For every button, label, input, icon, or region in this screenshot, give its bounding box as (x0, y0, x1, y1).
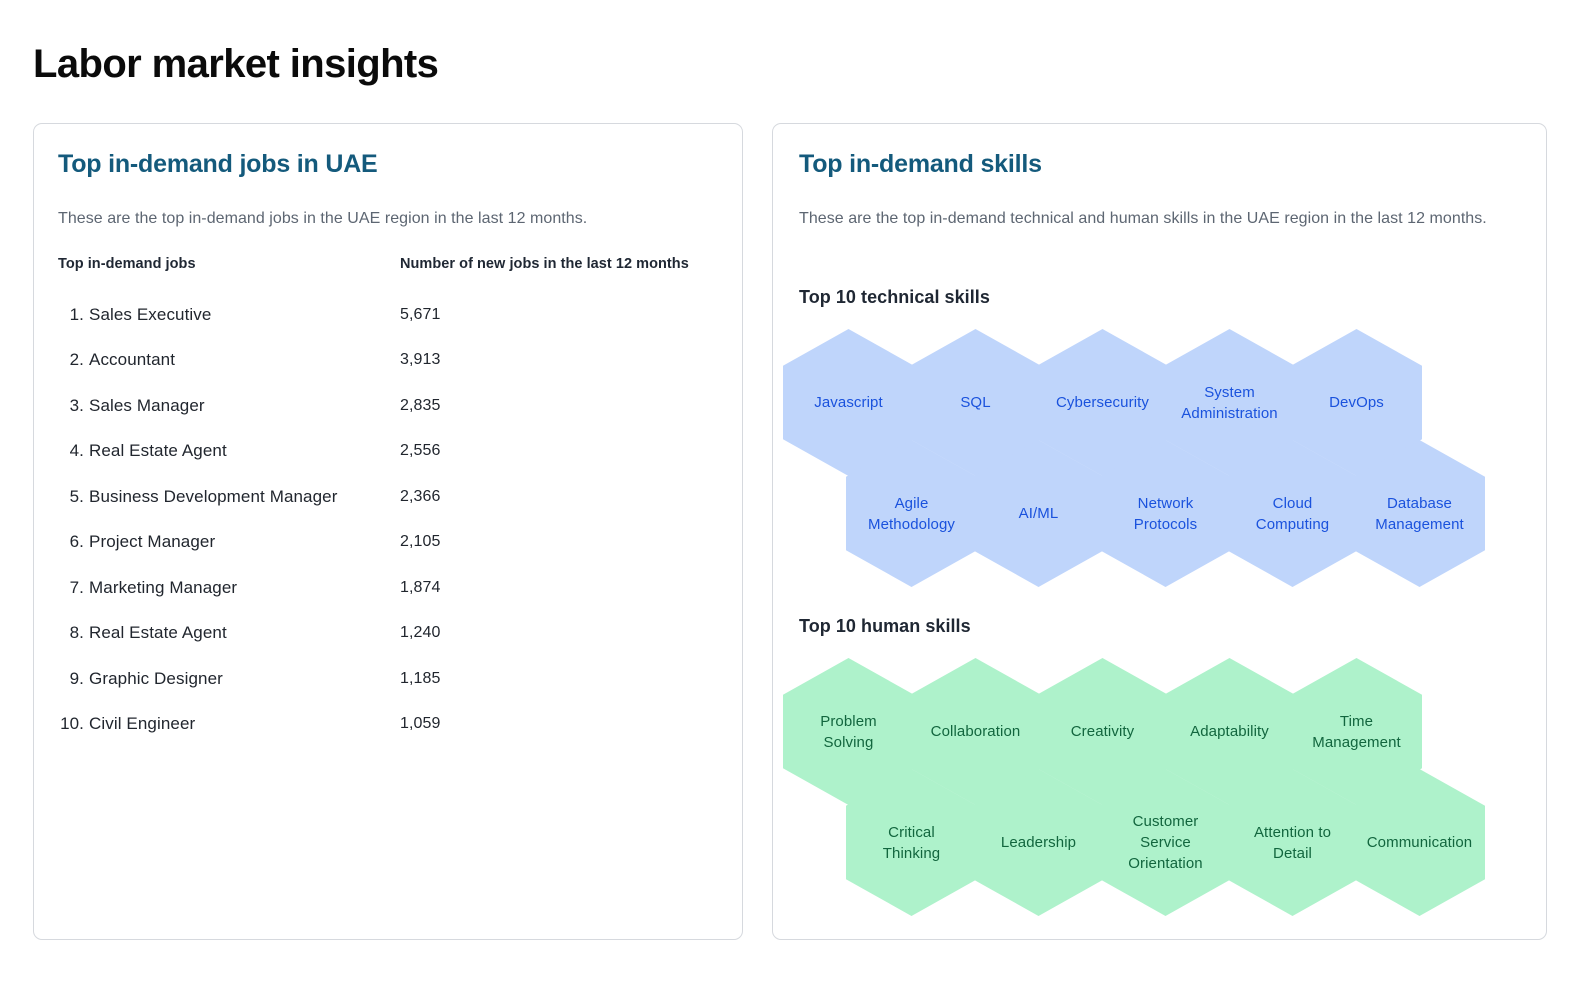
row-rank: 8. (52, 623, 84, 643)
top-skills-card-title: Top in-demand skills (799, 150, 1042, 179)
row-label: Real Estate Agent (89, 623, 227, 643)
row-label: Business Development Manager (89, 487, 338, 507)
row-value: 2,105 (400, 533, 441, 551)
row-label: Sales Executive (89, 305, 211, 325)
row-label: Sales Manager (89, 396, 205, 416)
table-row: 6. Project Manager 2,105 (34, 520, 742, 566)
technical-skills-hexgrid: Javascript SQL Cybersecurity System Admi… (783, 329, 1543, 579)
top-jobs-card: Top in-demand jobs in UAE These are the … (33, 123, 743, 940)
column-header-number: Number of new jobs in the last 12 months (400, 256, 689, 272)
table-row: 8. Real Estate Agent 1,240 (34, 611, 742, 657)
row-rank: 3. (52, 396, 84, 416)
row-rank: 1. (52, 305, 84, 325)
row-label: Project Manager (89, 532, 215, 552)
jobs-table: 1. Sales Executive 5,671 2. Accountant 3… (34, 292, 742, 747)
human-skills-heading: Top 10 human skills (799, 616, 971, 637)
row-bar-track (487, 574, 719, 602)
row-label: Real Estate Agent (89, 441, 227, 461)
row-label: Marketing Manager (89, 578, 237, 598)
table-row: 1. Sales Executive 5,671 (34, 292, 742, 338)
row-value: 2,366 (400, 488, 441, 506)
row-bar-track (487, 665, 719, 693)
technical-skills-heading: Top 10 technical skills (799, 287, 990, 308)
table-row: 2. Accountant 3,913 (34, 338, 742, 384)
column-header-jobs: Top in-demand jobs (58, 256, 196, 272)
row-rank: 6. (52, 532, 84, 552)
row-bar-track (487, 528, 719, 556)
row-bar-track (487, 483, 719, 511)
table-row: 5. Business Development Manager 2,366 (34, 474, 742, 520)
top-skills-card-subtitle: These are the top in-demand technical an… (799, 204, 1499, 233)
row-rank: 7. (52, 578, 84, 598)
row-bar-track (487, 392, 719, 420)
row-rank: 5. (52, 487, 84, 507)
table-row: 7. Marketing Manager 1,874 (34, 565, 742, 611)
top-jobs-card-title: Top in-demand jobs in UAE (58, 150, 378, 179)
row-value: 1,059 (400, 715, 441, 733)
row-bar-track (487, 710, 719, 738)
table-row: 10. Civil Engineer 1,059 (34, 702, 742, 748)
table-row: 9. Graphic Designer 1,185 (34, 656, 742, 702)
row-label: Civil Engineer (89, 714, 195, 734)
table-row: 4. Real Estate Agent 2,556 (34, 429, 742, 475)
row-value: 2,556 (400, 442, 441, 460)
top-jobs-card-subtitle: These are the top in-demand jobs in the … (58, 204, 718, 233)
row-bar-track (487, 437, 719, 465)
row-rank: 10. (52, 714, 84, 734)
row-value: 1,874 (400, 579, 441, 597)
row-rank: 4. (52, 441, 84, 461)
human-skills-hexgrid: Problem Solving Collaboration Creativity… (783, 658, 1543, 908)
row-value: 5,671 (400, 306, 441, 324)
table-row: 3. Sales Manager 2,835 (34, 383, 742, 429)
row-bar-track (487, 619, 719, 647)
row-label: Graphic Designer (89, 669, 223, 689)
row-value: 1,185 (400, 670, 441, 688)
row-value: 3,913 (400, 351, 441, 369)
row-bar-track (487, 301, 719, 329)
row-value: 1,240 (400, 624, 441, 642)
row-rank: 2. (52, 350, 84, 370)
page-title: Labor market insights (33, 38, 438, 90)
row-label: Accountant (89, 350, 175, 370)
row-bar-track (487, 346, 719, 374)
top-skills-card: Top in-demand skills These are the top i… (772, 123, 1547, 940)
row-value: 2,835 (400, 397, 441, 415)
row-rank: 9. (52, 669, 84, 689)
labor-market-insights-page: Labor market insights Top in-demand jobs… (0, 0, 1580, 990)
